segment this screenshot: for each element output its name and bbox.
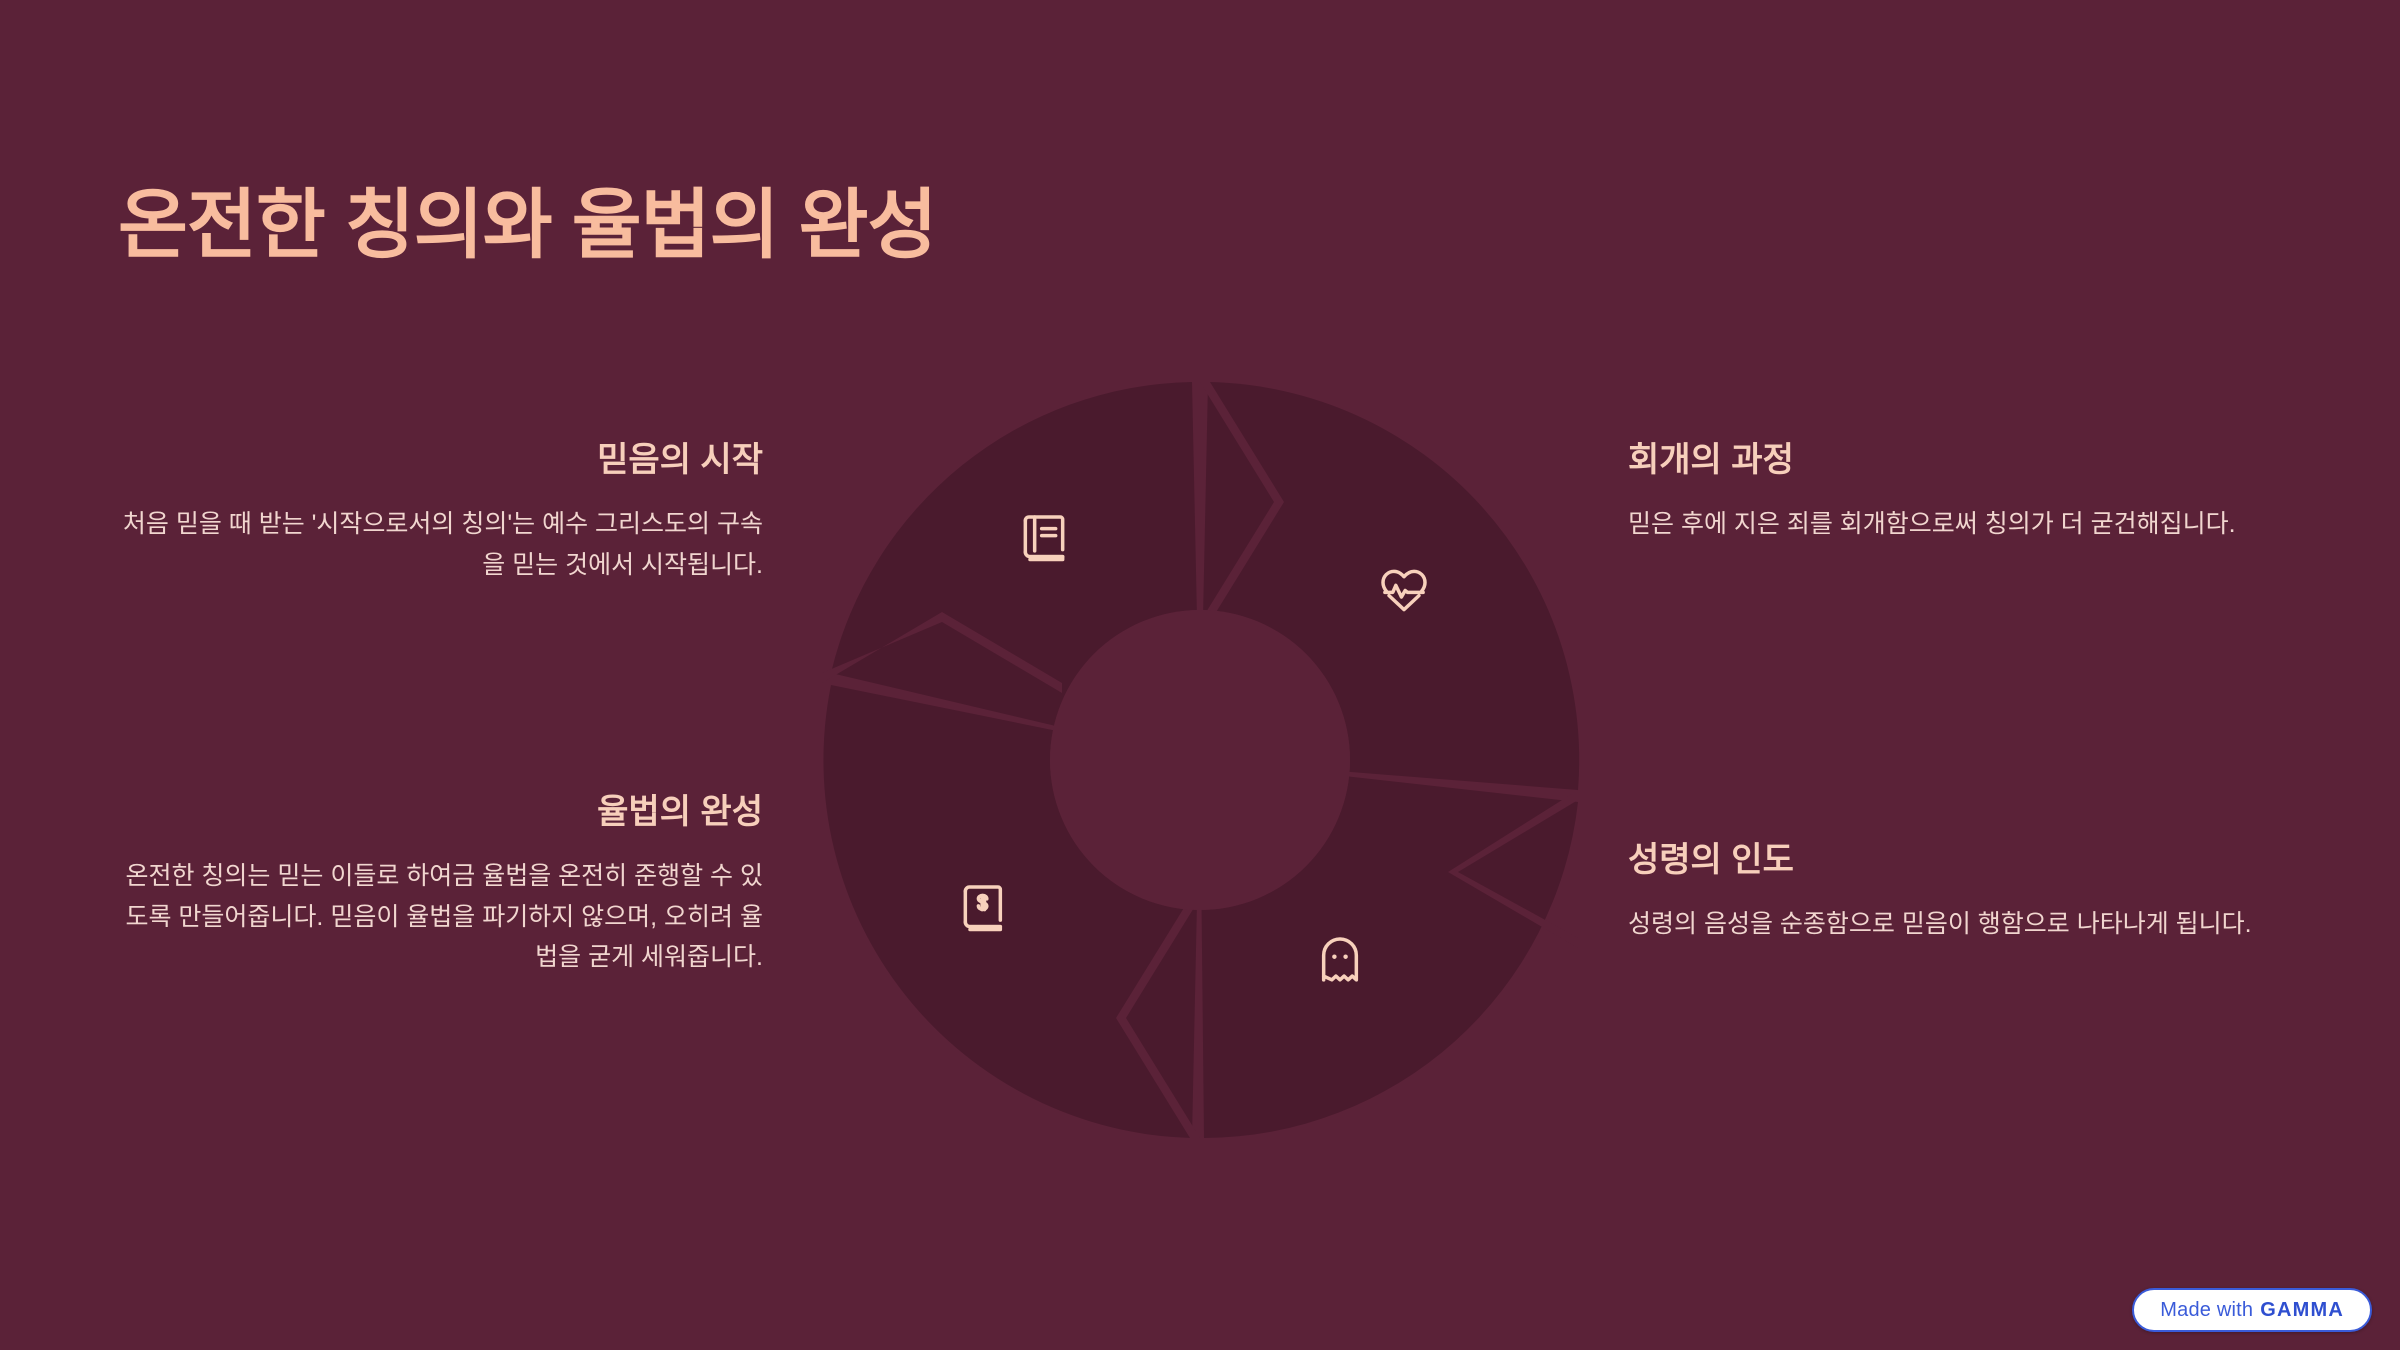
section-body: 온전한 칭의는 믿는 이들로 하여금 율법을 온전히 준행할 수 있도록 만들어… — [118, 856, 763, 978]
ghost-icon — [1312, 932, 1368, 988]
section-law-complete: 율법의 완성 온전한 칭의는 믿는 이들로 하여금 율법을 온전히 준행할 수 … — [118, 790, 763, 978]
section-title: 회개의 과정 — [1628, 438, 2273, 482]
law-book-icon — [956, 880, 1012, 936]
badge-brand-label: GAMMA — [2260, 1299, 2344, 1322]
section-title: 성령의 인도 — [1628, 838, 2273, 882]
section-body: 성령의 음성을 순종함으로 믿음이 행함으로 나타나게 됩니다. — [1628, 904, 2273, 945]
donut-hub — [1050, 610, 1350, 910]
made-with-gamma-badge[interactable]: Made with GAMMA — [2132, 1288, 2372, 1332]
slide-canvas: 온전한 칭의와 율법의 완성 — [0, 0, 2400, 1350]
section-body: 믿은 후에 지은 죄를 회개함으로써 칭의가 더 굳건해집니다. — [1628, 504, 2273, 545]
section-title: 믿음의 시작 — [118, 438, 763, 482]
section-repentance: 회개의 과정 믿은 후에 지은 죄를 회개함으로써 칭의가 더 굳건해집니다. — [1628, 438, 2273, 545]
section-spirit-guide: 성령의 인도 성령의 음성을 순종함으로 믿음이 행함으로 나타나게 됩니다. — [1628, 838, 2273, 945]
badge-prefix-label: Made with — [2160, 1299, 2253, 1322]
heart-pulse-icon — [1376, 562, 1432, 618]
section-title: 율법의 완성 — [118, 790, 763, 834]
cycle-diagram — [812, 372, 1588, 1148]
page-title: 온전한 칭의와 율법의 완성 — [118, 182, 936, 269]
section-faith-start: 믿음의 시작 처음 믿을 때 받는 '시작으로서의 칭의'는 예수 그리스도의 … — [118, 438, 763, 585]
section-body: 처음 믿을 때 받는 '시작으로서의 칭의'는 예수 그리스도의 구속을 믿는 … — [118, 504, 763, 585]
book-icon — [1016, 510, 1072, 566]
